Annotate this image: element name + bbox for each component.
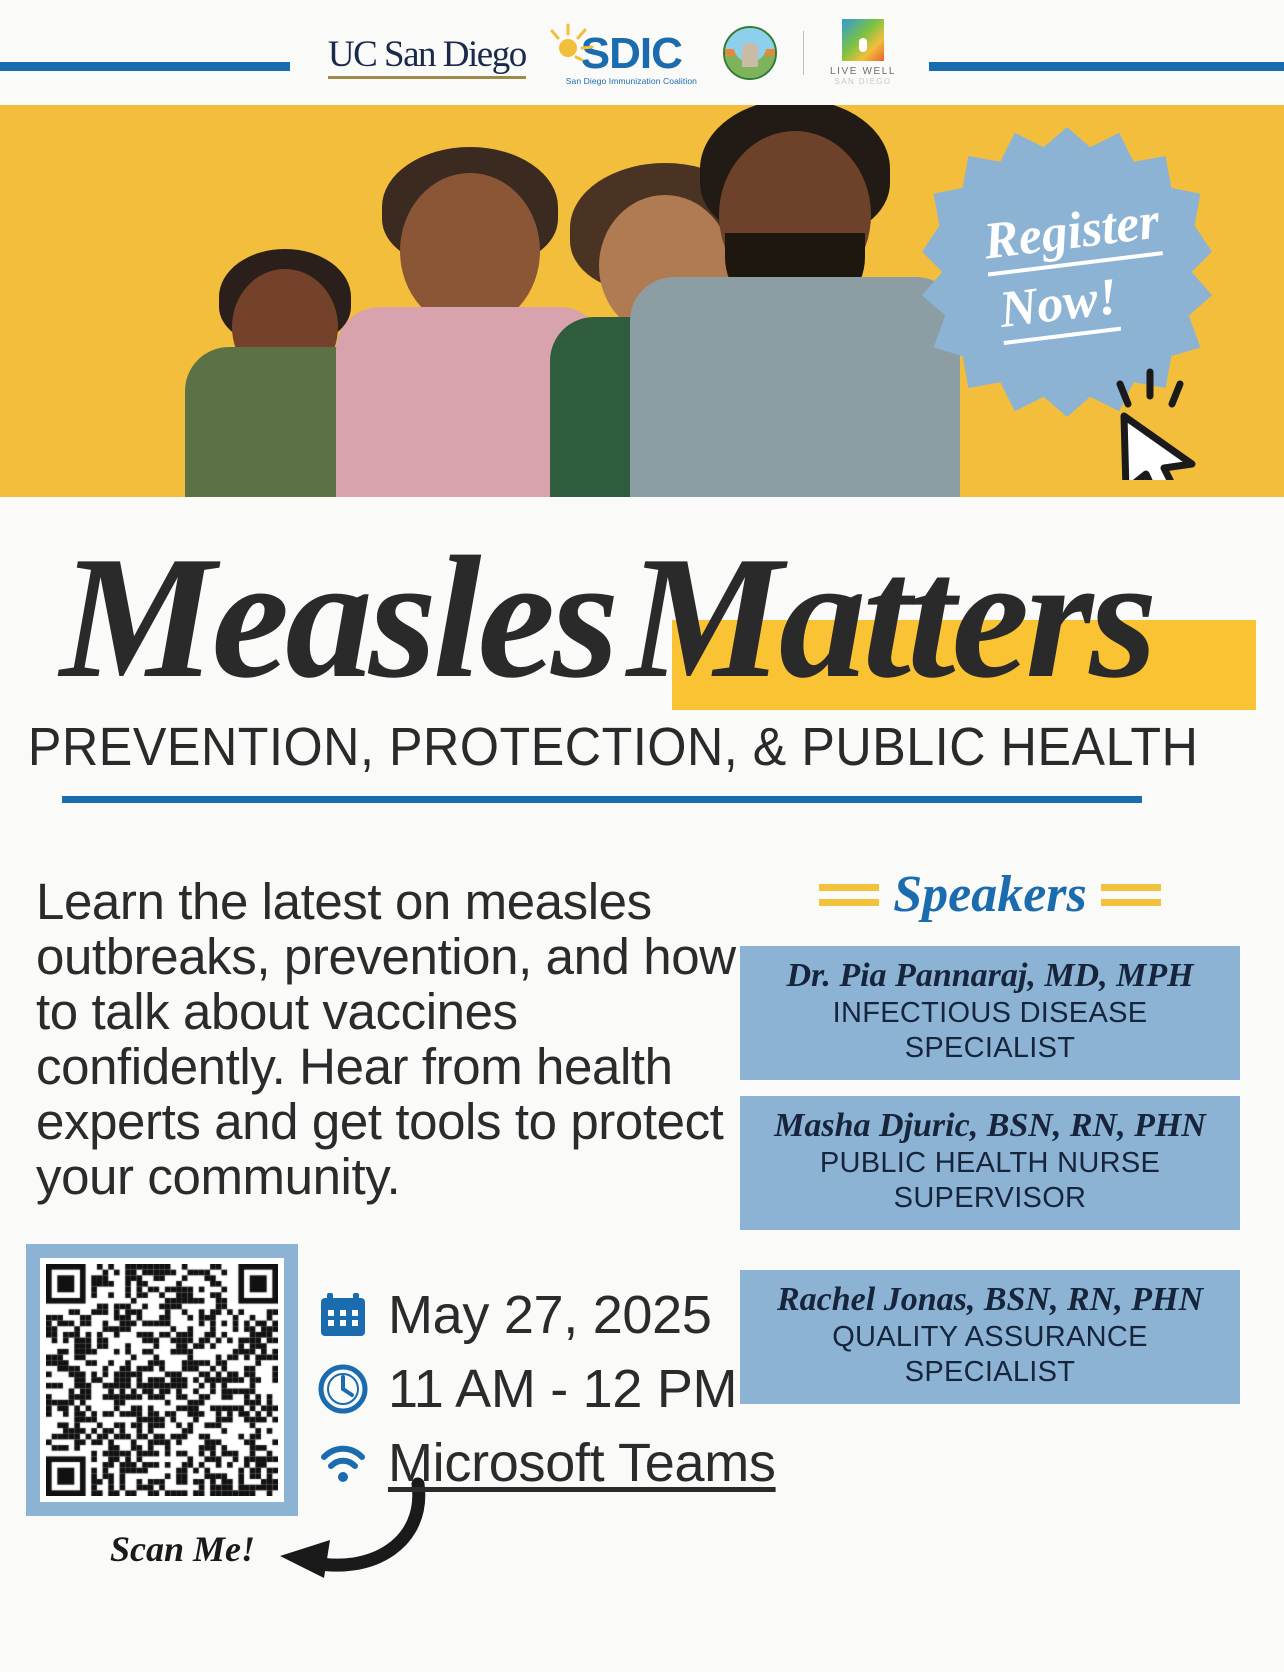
dash	[1101, 884, 1161, 891]
dash	[819, 899, 879, 906]
live-well-line2: SAN DIEGO	[835, 77, 892, 86]
county-of-san-diego-seal-icon	[723, 26, 777, 80]
live-well-san-diego-logo: LIVE WELL SAN DIEGO	[830, 19, 896, 86]
title-word-measles: Measles	[60, 520, 615, 714]
main-title-text: MeaslesMatters	[60, 512, 1284, 722]
event-detail-time: 11 AM - 12 PM	[318, 1352, 776, 1426]
uc-san-diego-underline	[328, 76, 526, 79]
uc-san-diego-wordmark: UC San Diego	[328, 36, 526, 73]
speaker-card: Masha Djuric, BSN, RN, PHN PUBLIC HEALTH…	[740, 1096, 1240, 1230]
speaker-role-line2: SUPERVISOR	[752, 1182, 1228, 1214]
header-rule-right	[929, 62, 1284, 71]
subtitle: PREVENTION, PROTECTION, & PUBLIC HEALTH	[0, 716, 1194, 778]
event-detail-date: May 27, 2025	[318, 1278, 776, 1352]
description-paragraph: Learn the latest on measles outbreaks, p…	[36, 874, 736, 1204]
speakers-section: Speakers Dr. Pia Pannaraj, MD, MPH INFEC…	[740, 860, 1240, 1404]
qr-code-inner	[40, 1258, 284, 1502]
event-time-text: 11 AM - 12 PM	[388, 1358, 737, 1420]
speakers-dashes-left	[819, 884, 879, 906]
event-detail-platform[interactable]: Microsoft Teams	[318, 1426, 776, 1500]
event-details: May 27, 2025 11 AM - 12 PM Microsoft Tea…	[318, 1278, 776, 1500]
torso	[630, 277, 960, 497]
wifi-icon	[318, 1438, 368, 1488]
header-rule-left	[0, 62, 290, 71]
title-block: MeaslesMatters PREVENTION, PROTECTION, &…	[0, 512, 1284, 803]
sdic-wordmark: SDIC	[581, 33, 682, 75]
figure-father	[630, 105, 960, 497]
seal-ring	[723, 26, 777, 80]
dash	[819, 884, 879, 891]
speaker-card: Rachel Jonas, BSN, RN, PHN QUALITY ASSUR…	[740, 1270, 1240, 1404]
speaker-card: Dr. Pia Pannaraj, MD, MPH INFECTIOUS DIS…	[740, 946, 1240, 1080]
title-divider-rule	[62, 796, 1142, 803]
logo-header: UC San Diego SDIC San Diego Immunization…	[0, 0, 1284, 105]
flyer-page: UC San Diego SDIC San Diego Immunization…	[0, 0, 1284, 1672]
speaker-role-line1: INFECTIOUS DISEASE	[752, 997, 1228, 1029]
speakers-dashes-right	[1101, 884, 1161, 906]
sdic-tagline: San Diego Immunization Coalition	[566, 76, 697, 86]
speaker-role-line2: SPECIALIST	[752, 1032, 1228, 1064]
speaker-name: Dr. Pia Pannaraj, MD, MPH	[752, 956, 1228, 995]
head	[400, 173, 540, 329]
title-word-matters: Matters	[627, 520, 1153, 714]
event-platform-link[interactable]: Microsoft Teams	[388, 1432, 776, 1494]
family-photo	[160, 105, 880, 497]
sun-icon	[548, 21, 594, 61]
speakers-heading-text: Speakers	[893, 869, 1087, 921]
uc-san-diego-logo: UC San Diego	[328, 26, 526, 79]
speaker-role-line1: PUBLIC HEALTH NURSE	[752, 1147, 1228, 1179]
logo-row: UC San Diego SDIC San Diego Immunization…	[292, 0, 932, 105]
cursor-pointer-icon	[1106, 360, 1206, 485]
qr-code-image[interactable]	[46, 1264, 278, 1496]
register-now-line2: Now!	[997, 271, 1122, 345]
speaker-role-line2: SPECIALIST	[752, 1356, 1228, 1388]
speaker-name: Masha Djuric, BSN, RN, PHN	[752, 1106, 1228, 1145]
main-title: MeaslesMatters	[0, 512, 1284, 722]
live-well-line1: LIVE WELL	[830, 66, 896, 77]
live-well-mark-icon	[842, 19, 884, 61]
register-now-line1: Register	[981, 195, 1163, 276]
calendar-icon	[318, 1290, 368, 1340]
scan-me-caption: Scan Me!	[110, 1528, 255, 1570]
hero-banner: Register Now!	[0, 105, 1284, 497]
dash	[1101, 899, 1161, 906]
speakers-heading: Speakers	[740, 860, 1240, 930]
qr-code-frame[interactable]	[26, 1244, 298, 1516]
logo-divider	[803, 31, 804, 75]
speaker-name: Rachel Jonas, BSN, RN, PHN	[752, 1280, 1228, 1319]
speaker-role-line1: QUALITY ASSURANCE	[752, 1321, 1228, 1353]
clock-icon	[318, 1364, 368, 1414]
event-date-text: May 27, 2025	[388, 1284, 712, 1346]
sdic-logo: SDIC San Diego Immunization Coalition	[552, 19, 697, 87]
